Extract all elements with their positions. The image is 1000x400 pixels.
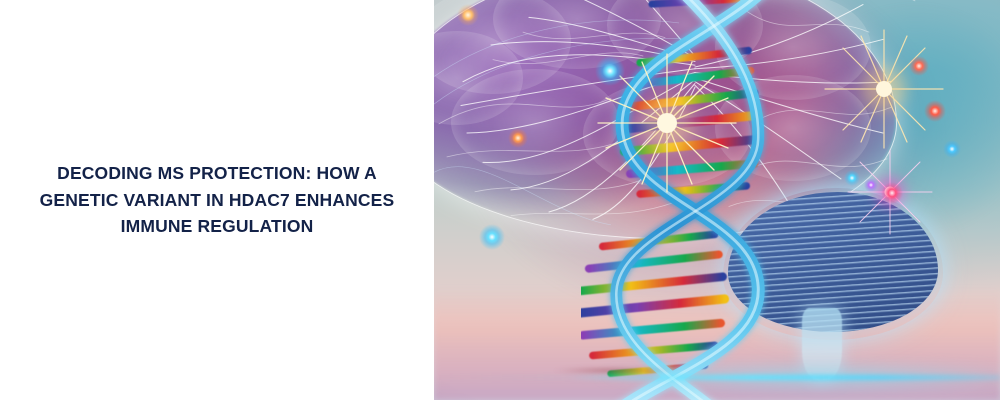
headline-line-2: GENETIC VARIANT IN HDAC7 ENHANCES bbox=[40, 190, 395, 210]
artwork-stage bbox=[434, 0, 1000, 400]
hero-artwork bbox=[434, 0, 1000, 400]
article-hero-banner: DECODING MS PROTECTION: HOW A GENETIC VA… bbox=[0, 0, 1000, 400]
artwork-vignette bbox=[434, 0, 1000, 400]
headline-line-3: IMMUNE REGULATION bbox=[121, 216, 314, 236]
page-title: DECODING MS PROTECTION: HOW A GENETIC VA… bbox=[34, 160, 400, 240]
headline-line-1: DECODING MS PROTECTION: HOW A bbox=[57, 163, 377, 183]
headline-panel: DECODING MS PROTECTION: HOW A GENETIC VA… bbox=[0, 0, 434, 400]
